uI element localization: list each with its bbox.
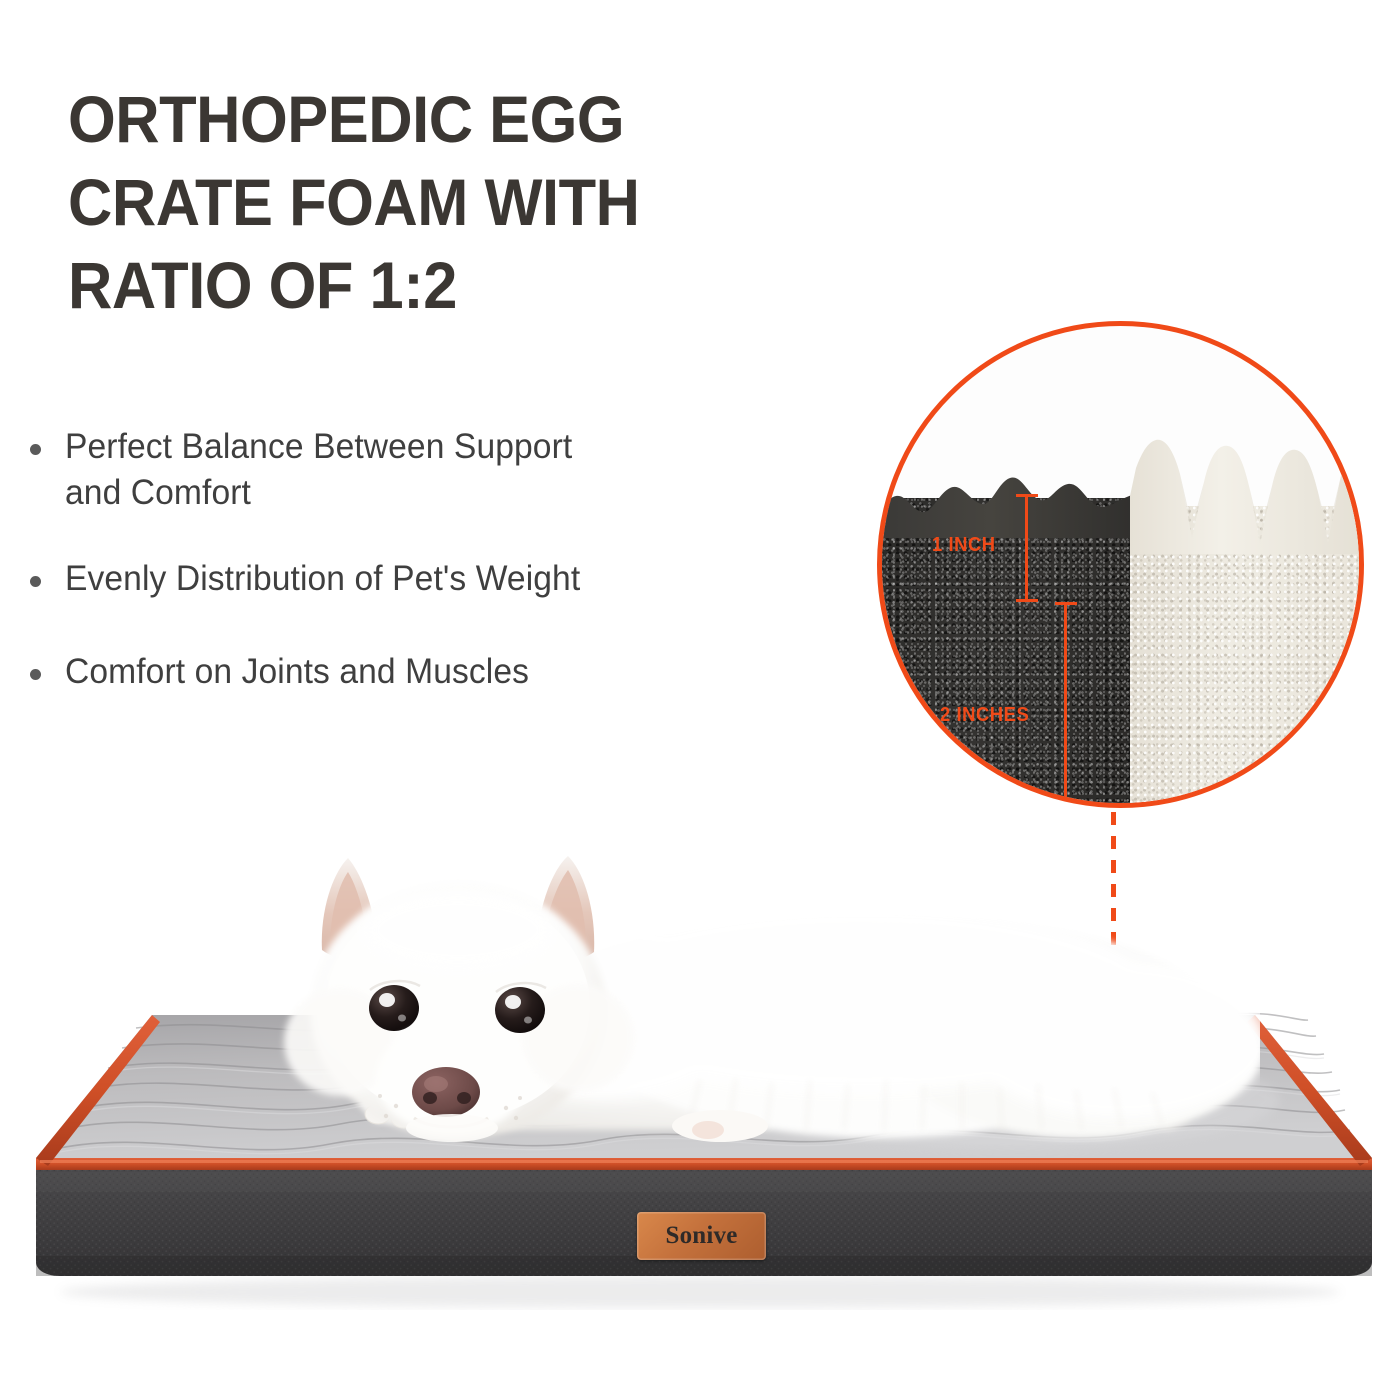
bullet-dot-icon xyxy=(30,669,41,680)
feature-text: Comfort on Joints and Muscles xyxy=(65,649,529,695)
brand-name: Sonive xyxy=(665,1222,737,1250)
white-foam-crest xyxy=(1130,434,1364,554)
foam-cross-section-image: 1 INCH 2 INCHES xyxy=(882,326,1359,803)
feature-text: Perfect Balance Between Support and Comf… xyxy=(65,424,627,516)
feature-list: Perfect Balance Between Support and Comf… xyxy=(30,424,860,733)
dimension-line-one-inch xyxy=(1025,494,1028,602)
bullet-dot-icon xyxy=(30,576,41,587)
dimension-label-two-inches: 2 INCHES xyxy=(940,704,1029,727)
list-item: Comfort on Joints and Muscles xyxy=(30,649,860,695)
page-title-line-3: RATIO OF 1:2 xyxy=(68,244,831,327)
dark-foam-block xyxy=(877,498,1136,808)
feature-text: Evenly Distribution of Pet's Weight xyxy=(65,556,580,602)
dimension-line-two-inches xyxy=(1064,602,1067,808)
page-title-line-1: ORTHOPEDIC EGG xyxy=(68,78,831,161)
list-item: Evenly Distribution of Pet's Weight xyxy=(30,556,860,602)
dark-foam-crest xyxy=(877,476,1136,538)
list-item: Perfect Balance Between Support and Comf… xyxy=(30,424,650,516)
bullet-dot-icon xyxy=(30,444,41,455)
page-title: ORTHOPEDIC EGG CRATE FOAM WITH RATIO OF … xyxy=(68,78,831,327)
dog-photo xyxy=(180,830,1260,1160)
page-title-line-2: CRATE FOAM WITH xyxy=(68,161,831,244)
dimension-label-one-inch: 1 INCH xyxy=(932,534,996,557)
foam-detail-callout: 1 INCH 2 INCHES xyxy=(877,321,1364,808)
brand-patch: Sonive xyxy=(637,1212,766,1260)
